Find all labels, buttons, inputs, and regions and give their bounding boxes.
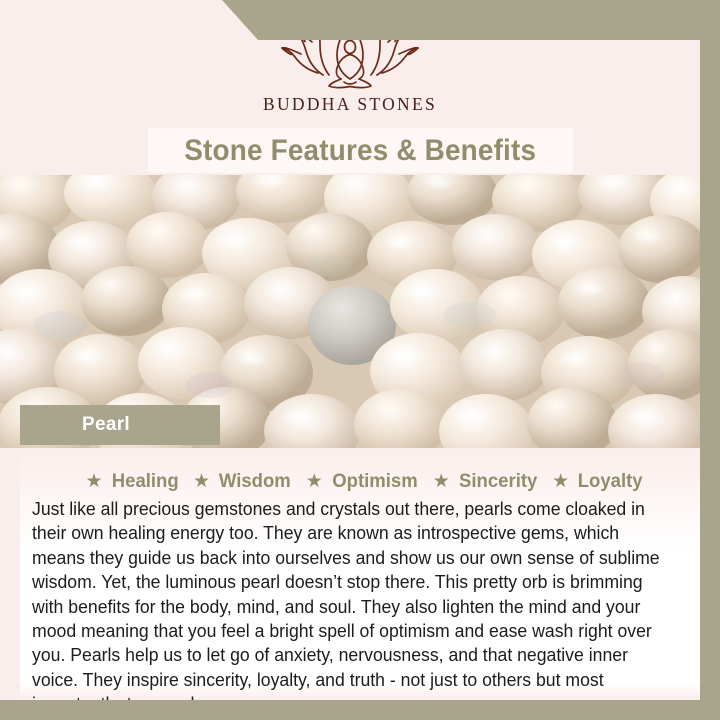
benefit-item: ★ Optimism	[306, 470, 420, 493]
benefit-label: Sincerity	[459, 470, 537, 493]
stone-info-card: BUDDHA STONES Stone Features & Benefits	[0, 0, 720, 720]
star-icon: ★	[306, 472, 323, 491]
card-canvas: BUDDHA STONES Stone Features & Benefits	[0, 0, 700, 700]
star-icon: ★	[86, 472, 103, 491]
page-title: Stone Features & Benefits	[185, 134, 537, 168]
benefit-label: Optimism	[332, 470, 417, 493]
benefit-label: Healing	[111, 470, 178, 493]
star-icon: ★	[193, 472, 210, 491]
benefit-item: ★ Loyalty	[552, 470, 644, 493]
stone-name: Pearl	[82, 414, 130, 436]
benefit-item: ★ Wisdom	[193, 470, 293, 493]
brand-name: BUDDHA STONES	[0, 94, 700, 115]
stone-name-bar: Pearl	[20, 405, 220, 445]
benefit-label: Wisdom	[219, 470, 291, 493]
benefits-list: ★ Healing ★ Wisdom ★ Optimism ★ Sincerit…	[20, 448, 700, 493]
benefit-item: ★ Sincerity	[433, 470, 539, 493]
benefit-item: ★ Healing	[86, 470, 180, 493]
benefits-panel: ★ Healing ★ Wisdom ★ Optimism ★ Sincerit…	[20, 448, 700, 700]
stone-description: Just like all precious gemstones and cry…	[32, 497, 668, 700]
title-banner: Stone Features & Benefits	[148, 128, 573, 173]
star-icon: ★	[433, 472, 450, 491]
star-icon: ★	[552, 472, 569, 491]
benefit-label: Loyalty	[578, 470, 643, 493]
